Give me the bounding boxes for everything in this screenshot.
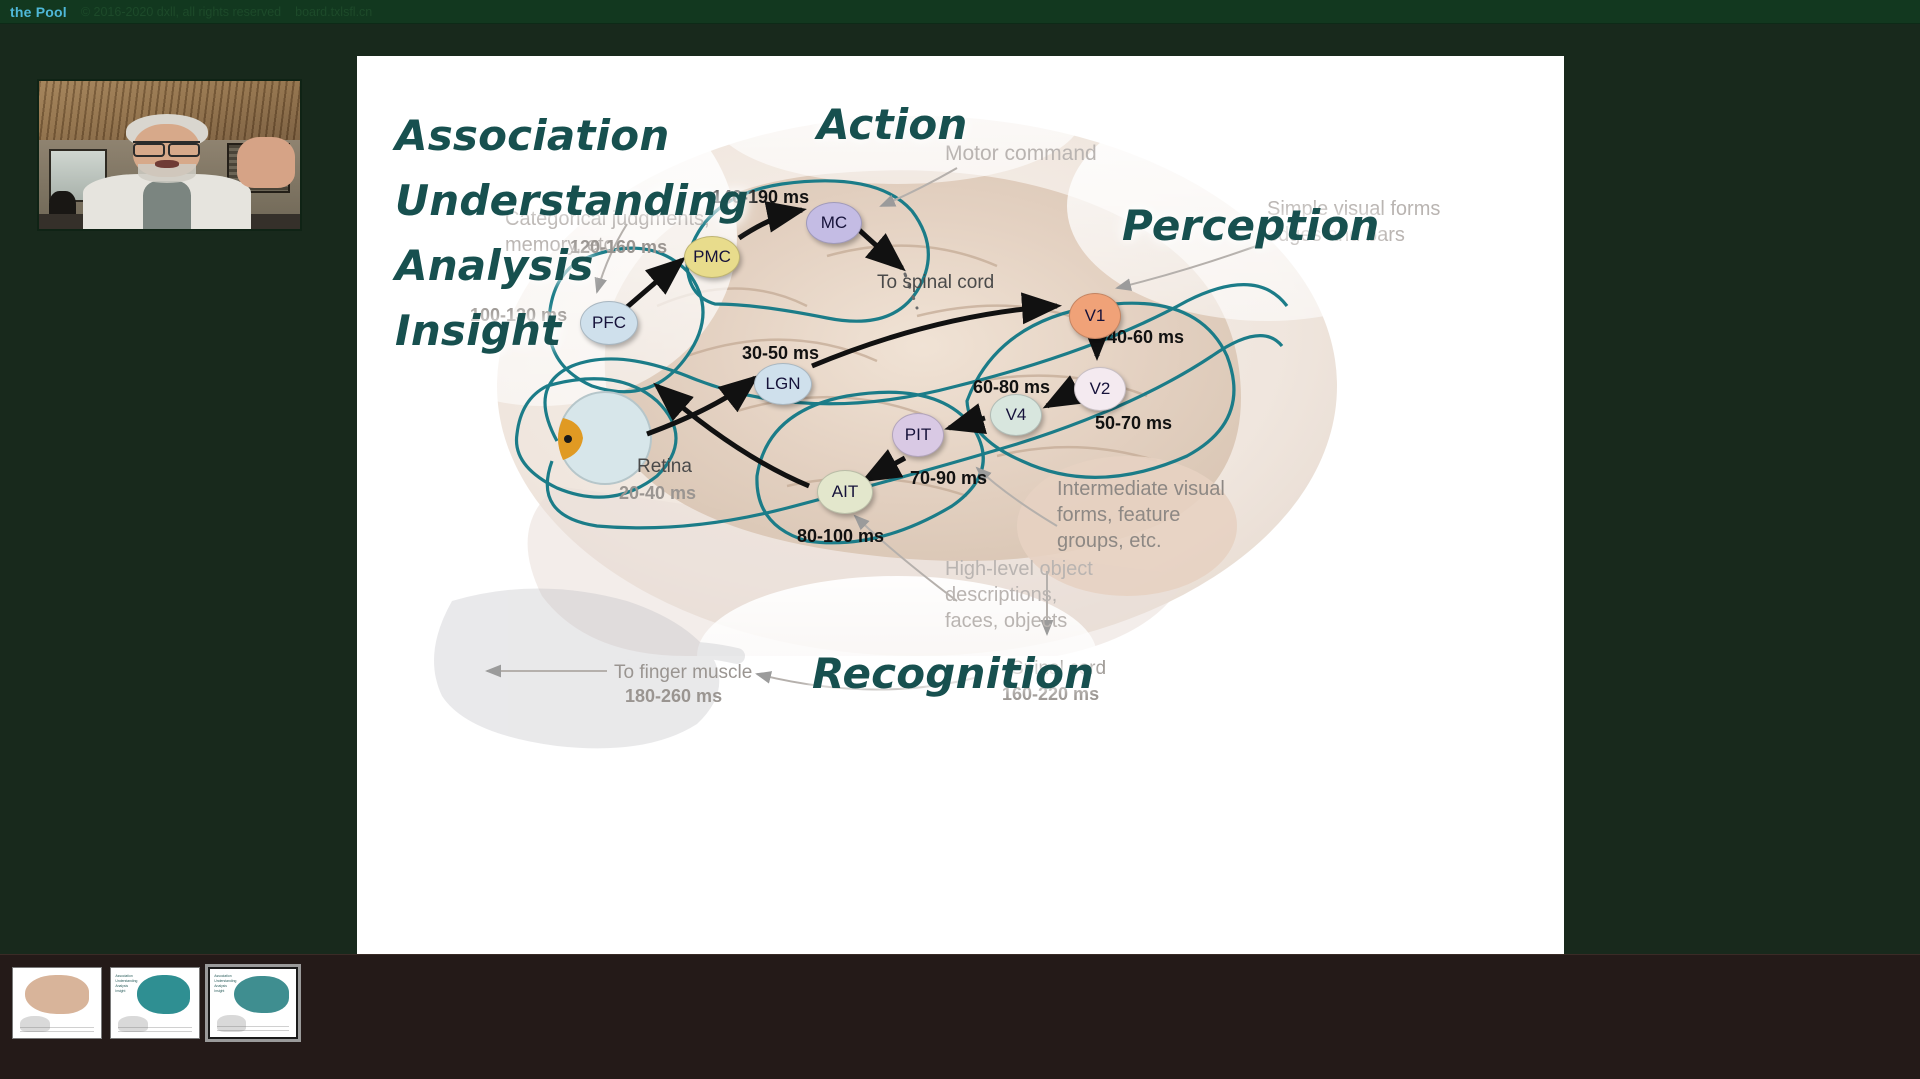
heading-action: Action [817,100,968,149]
node-v1[interactable]: V1 [1069,293,1121,339]
ghost-motor-command: Motor command [945,141,1185,167]
label-to-spinal-cord: To spinal cord [877,272,994,294]
thumb-1-content [13,968,101,1038]
slide-thumbnail-strip[interactable]: Association Understanding Analysis Insig… [0,954,1920,1079]
t-shirt [143,181,191,229]
presenter-video-tile[interactable] [37,79,302,231]
time-30-50: 30-50 ms [742,343,819,364]
heading-insight: Insight [395,306,561,355]
node-ait[interactable]: AIT [817,470,873,514]
node-pmc[interactable]: PMC [684,236,740,278]
glasses [133,141,200,153]
thumb-slide-3[interactable]: Association Understanding Analysis Insig… [208,967,298,1039]
heading-recognition: Recognition [812,649,1094,698]
thumb-3-lines [217,1023,289,1033]
time-50-70: 50-70 ms [1095,413,1172,434]
label-to-finger-muscle: To finger muscle [614,662,752,684]
top-bar: the Pool © 2016-2020 dxll, all rights re… [0,0,1920,24]
node-v4[interactable]: V4 [990,394,1042,436]
presenter [107,114,227,229]
ghost-intermediate-forms: Intermediate visual forms, feature group… [1057,476,1307,554]
thumb-slide-1[interactable] [12,967,102,1039]
ghost-high-level-object: High-level object descriptions, faces, o… [945,556,1195,634]
heading-understanding: Understanding [395,176,749,225]
thumb-2-lines [118,1024,192,1034]
thumb-1-lines [20,1024,94,1034]
slide-surface[interactable]: Categorical judgments, memory, etc. Moto… [357,56,1564,986]
node-pfc[interactable]: PFC [580,301,638,345]
thumb-slide-2[interactable]: Association Understanding Analysis Insig… [110,967,200,1039]
node-mc[interactable]: MC [806,202,862,244]
brand-label[interactable]: the Pool [10,4,67,20]
node-v2[interactable]: V2 [1074,367,1126,411]
thumb-2-brain [137,975,190,1014]
time-40-60: 40-60 ms [1107,327,1184,348]
heading-perception: Perception [1122,201,1380,250]
node-lgn[interactable]: LGN [754,363,812,405]
time-180-260: 180-260 ms [625,686,722,707]
thumb-2-caption: Association Understanding Analysis Insig… [115,974,137,994]
app-root: the Pool © 2016-2020 dxll, all rights re… [0,0,1920,1079]
thumb-2-content: Association Understanding Analysis Insig… [111,968,199,1038]
time-70-90: 70-90 ms [910,468,987,489]
thumb-3-caption: Association Understanding Analysis Insig… [214,974,236,994]
copyright-text: © 2016-2020 dxll, all rights reserved [81,5,281,19]
time-80-100: 80-100 ms [797,526,884,547]
thumb-3-content: Association Understanding Analysis Insig… [210,969,296,1037]
label-retina: Retina [637,456,692,478]
heading-analysis: Analysis [395,241,594,290]
thumb-1-brain [25,975,88,1014]
heading-association: Association [395,111,669,160]
presentation-stage: Categorical judgments, memory, etc. Moto… [0,24,1920,954]
time-20-40: 20-40 ms [619,483,696,504]
raised-hand [237,137,294,187]
mouth [155,160,179,168]
board-link[interactable]: board.txlsfl.cn [295,5,372,19]
node-pit[interactable]: PIT [892,413,944,457]
thumb-3-brain [234,976,289,1013]
